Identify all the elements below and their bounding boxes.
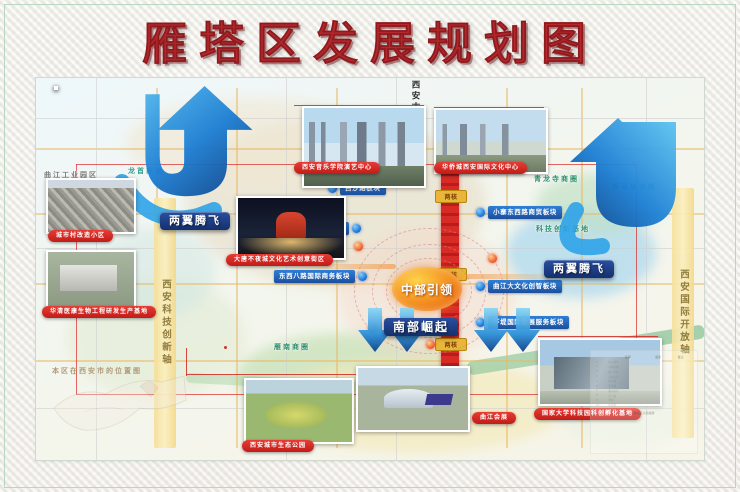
lead-line-top	[294, 105, 424, 106]
caption-biomed: 华清医康生物工程研发生产基地	[42, 306, 156, 318]
block-dot-dongxiba	[358, 272, 367, 281]
frame-top	[4, 4, 736, 5]
cluster-dot-nw	[354, 242, 363, 251]
inset-title: 本区在西安市的位置图	[52, 366, 142, 376]
photo-convention-card[interactable]	[356, 366, 470, 432]
lead-node-eco	[224, 346, 227, 349]
photo-biomed-card[interactable]	[46, 250, 136, 310]
lead-line-oct	[434, 107, 544, 108]
badge-two-wings-west[interactable]: 两翼腾飞	[160, 212, 230, 230]
badge-south-rise[interactable]: 南部崛起	[384, 318, 458, 336]
frame-bottom	[4, 487, 736, 488]
legend-idx: 10	[596, 403, 608, 408]
photo-urban-village-sky	[48, 180, 134, 188]
block-label-dongxiba: 东西八路国际商务板块	[274, 270, 355, 283]
planning-map: 西安科技创新轴 西安国际开放轴 西安古都文化传承轴 两核 南核 两核 docum…	[36, 78, 704, 460]
caption-convention: 曲江会展	[472, 412, 516, 424]
block-dot-qujiang	[476, 282, 485, 291]
photo-card-1[interactable]	[54, 86, 58, 90]
circle-label-yannan: 雁南商圈	[274, 342, 310, 352]
caption-eco-park: 西安城市生态公园	[242, 440, 314, 452]
lead-line-science	[538, 336, 658, 337]
legend-row: 10鱼化寨	[596, 403, 692, 408]
photo-datang-card[interactable]	[236, 196, 346, 260]
block-dongxiba-business[interactable]: 东西八路国际商务板块	[274, 270, 367, 283]
inset-locator-map	[44, 346, 194, 450]
legend-footer: 雁塔区人民政府	[596, 411, 692, 415]
block-dot-xiaozhai	[476, 208, 485, 217]
photo-biomed-building	[60, 265, 117, 291]
photo-eco-park-lawn	[265, 402, 326, 428]
photo-skyline-card[interactable]	[302, 106, 426, 188]
map-legend: 名称 面积 备注 1中心城区 2小寨商圈 3曲江新区 4高新片区 5电子城 6等…	[590, 350, 698, 454]
axis-label-opening: 西安国际开放轴	[676, 269, 690, 357]
page-title: 雁塔区发展规划图	[0, 8, 740, 70]
frame-left	[4, 4, 5, 488]
caption-oct-center: 华侨城西安国际文化中心	[434, 162, 527, 174]
caption-datang: 大唐不夜城文化艺术创意街区	[226, 254, 333, 266]
legend-name: 鱼化寨	[608, 403, 647, 408]
center-hub-label: 中部引领	[401, 281, 453, 298]
block-label-qujiang: 曲江大文化创智板块	[488, 280, 562, 293]
block-qujiang-culture[interactable]: 曲江大文化创智板块	[476, 280, 562, 293]
block-dot-music	[352, 224, 361, 233]
photo-urban-village-card[interactable]	[46, 178, 136, 234]
legend-table: 名称 面积 备注 1中心城区 2小寨商圈 3曲江新区 4高新片区 5电子城 6等…	[596, 355, 692, 408]
frame-right	[735, 4, 736, 488]
lead-line-eco	[186, 374, 356, 375]
caption-music-academy: 西安音乐学院演艺中心	[294, 162, 380, 174]
badge-two-wings-east[interactable]: 两翼腾飞	[544, 260, 614, 278]
core-tag-north: 两核	[435, 190, 467, 203]
caption-urban-village: 城市村改造小区	[48, 230, 113, 242]
photo-eco-park-card[interactable]	[244, 378, 354, 444]
cluster-dot-ne	[488, 254, 497, 263]
photo-datang-pagoda	[276, 212, 306, 237]
photo-convention-accent	[425, 394, 454, 405]
